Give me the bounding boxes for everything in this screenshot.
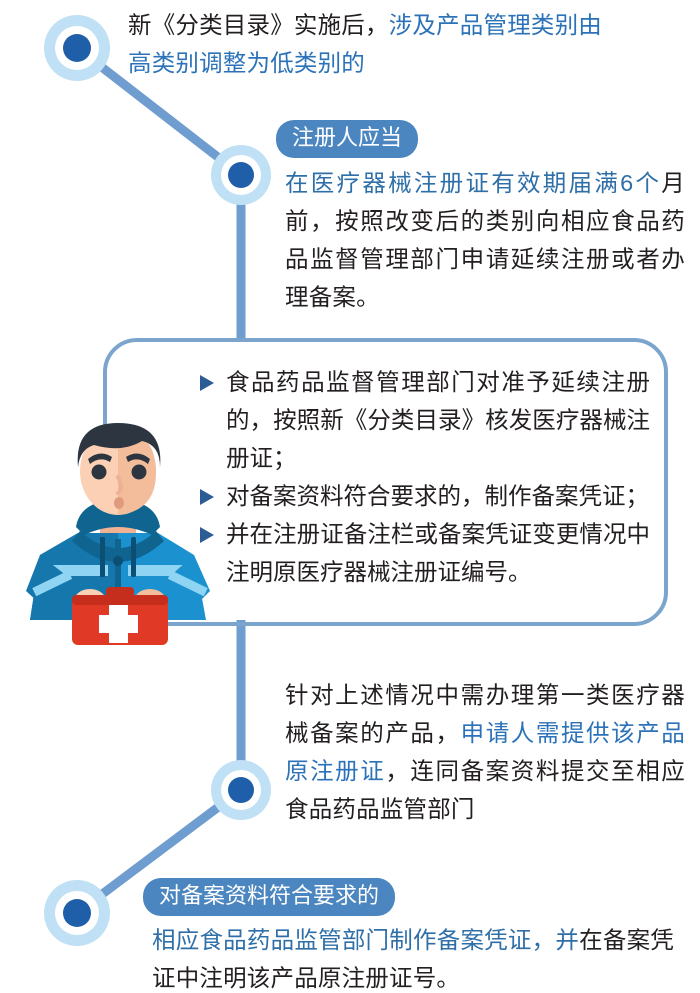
step-1-highlight-a: 涉及产品管理类别由 <box>389 12 602 38</box>
step-5-blue-part: 相应食品药品监管部门制作备案凭证，并 <box>152 927 579 953</box>
triangle-bullet-icon <box>198 515 220 544</box>
badge-filing-compliant[interactable]: 对备案资料符合要求的 <box>143 878 395 916</box>
timeline-node-2[interactable] <box>211 145 271 205</box>
timeline-node-1[interactable] <box>44 15 110 81</box>
step-1-text: 新《分类目录》实施后，涉及产品管理类别由 高类别调整为低类别的 <box>128 6 684 82</box>
bullet-item-2-text: 对备案资料符合要求的，制作备案凭证； <box>226 477 650 515</box>
step-1-plain: 新《分类目录》实施后， <box>128 12 389 38</box>
timeline-node-4-core <box>63 899 91 927</box>
bullet-item-3-text: 并在注册证备注栏或备案凭证变更情况中注明原医疗器械注册证编号。 <box>226 515 650 591</box>
timeline-node-3-core <box>228 777 254 803</box>
step-3-bullet-list: 食品药品监督管理部门对准予延续注册的，按照新《分类目录》核发医疗器械注册证； 对… <box>198 363 650 591</box>
step-2-text: 在医疗器械注册证有效期届满6个月前，按照改变后的类别向相应食品药品监督管理部门申… <box>285 164 685 316</box>
timeline-node-2-core <box>228 162 254 188</box>
infographic-root: 新《分类目录》实施后，涉及产品管理类别由 高类别调整为低类别的 注册人应当 在医… <box>0 0 700 993</box>
step-4-text: 针对上述情况中需办理第一类医疗器械备案的产品，申请人需提供该产品原注册证，连同备… <box>285 676 685 828</box>
step-1-highlight-b: 高类别调整为低类别的 <box>128 50 365 76</box>
timeline-node-4[interactable] <box>44 880 110 946</box>
step-1-line-1: 新《分类目录》实施后，涉及产品管理类别由 <box>128 6 684 44</box>
bullet-item-3: 并在注册证备注栏或备案凭证变更情况中注明原医疗器械注册证编号。 <box>198 515 650 591</box>
timeline-node-3[interactable] <box>211 760 271 820</box>
triangle-bullet-icon <box>198 477 220 506</box>
bullet-item-1-text: 食品药品监督管理部门对准予延续注册的，按照新《分类目录》核发医疗器械注册证； <box>226 363 650 477</box>
bullet-item-1: 食品药品监督管理部门对准予延续注册的，按照新《分类目录》核发医疗器械注册证； <box>198 363 650 477</box>
step-2-blue-part: 在医疗器械注册证有效期届满6个 <box>285 170 661 196</box>
bullet-item-2: 对备案资料符合要求的，制作备案凭证； <box>198 477 650 515</box>
badge-registrant-should[interactable]: 注册人应当 <box>276 120 418 158</box>
paramedic-illustration <box>18 415 218 645</box>
triangle-bullet-icon <box>198 363 220 392</box>
step-5-text: 相应食品药品监管部门制作备案凭证，并在备案凭证中注明该产品原注册证号。 <box>152 921 674 993</box>
step-1-line-2: 高类别调整为低类别的 <box>128 44 684 82</box>
timeline-node-1-core <box>63 34 91 62</box>
